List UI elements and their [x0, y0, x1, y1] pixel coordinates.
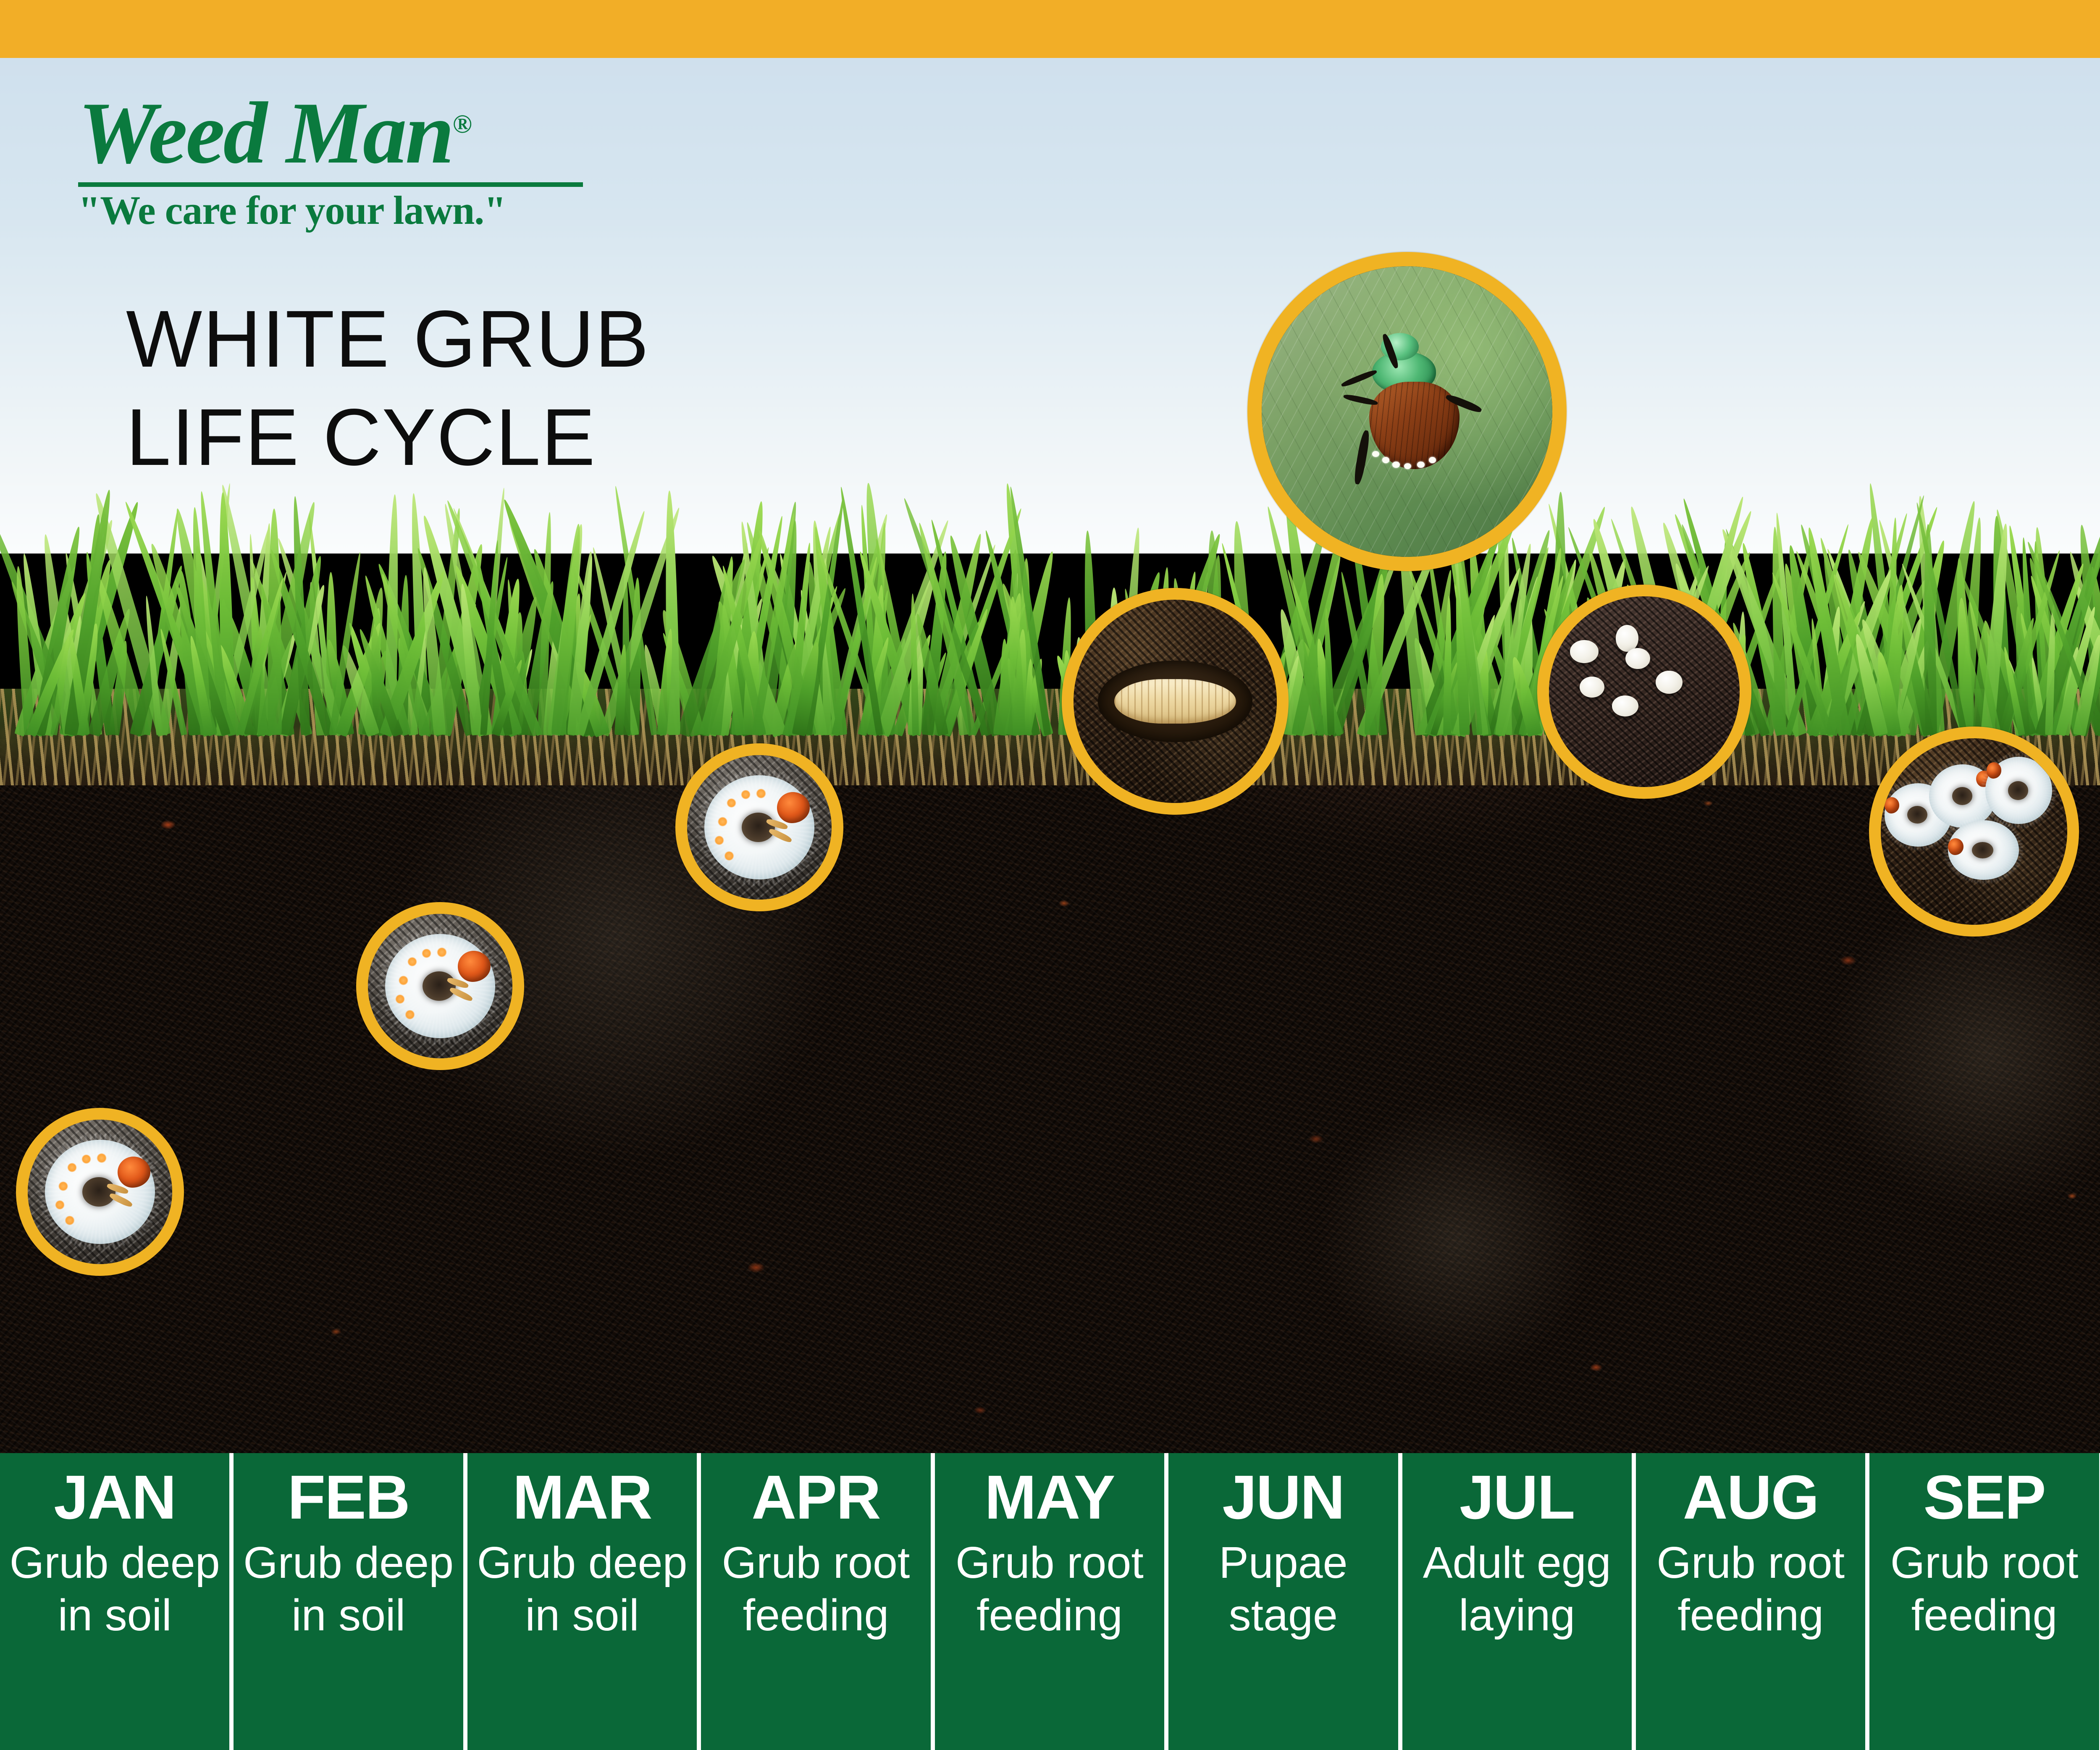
white-grub-icon — [1948, 820, 2019, 880]
registered-trademark-icon: ® — [453, 110, 472, 139]
month-cell-sep[interactable]: SEPGrub root feeding — [1869, 1453, 2099, 1750]
stage-circle-jul-adult-beetle[interactable] — [1247, 252, 1567, 571]
white-grub-icon — [1985, 757, 2053, 824]
month-stage-description: Grub deep in soil — [467, 1537, 697, 1642]
logo-wordmark: Weed Man® — [78, 89, 687, 177]
month-stage-description: Grub deep in soil — [0, 1537, 229, 1642]
month-abbr-label: APR — [751, 1465, 880, 1530]
month-stage-description: Grub root feeding — [701, 1537, 930, 1642]
beetle-egg-icon — [1612, 695, 1639, 716]
month-abbr-label: JUN — [1222, 1465, 1344, 1530]
white-grub-icon — [385, 934, 495, 1038]
month-stage-description: Grub root feeding — [1869, 1537, 2099, 1642]
month-stage-description: Adult egg laying — [1402, 1537, 1632, 1642]
logo-tagline: "We care for your lawn." — [78, 190, 687, 231]
page-title: WHITE GRUB LIFE CYCLE — [126, 290, 650, 486]
white-grub-life-cycle-poster: Weed Man® "We care for your lawn." WHITE… — [0, 0, 2100, 1750]
month-stage-description: Pupae stage — [1168, 1537, 1398, 1642]
month-cell-may[interactable]: MAYGrub root feeding — [935, 1453, 1164, 1750]
month-stage-description: Grub root feeding — [935, 1537, 1164, 1642]
stage-circle-jun-pupa[interactable] — [1062, 588, 1289, 815]
logo-divider-rule — [78, 182, 583, 187]
beetle-egg-icon — [1625, 648, 1650, 669]
weed-man-logo: Weed Man® "We care for your lawn." — [78, 89, 687, 231]
month-cell-feb[interactable]: FEBGrub deep in soil — [234, 1453, 463, 1750]
beetle-egg-icon — [1616, 625, 1638, 652]
month-abbr-label: JAN — [54, 1465, 176, 1530]
month-timeline: JANGrub deep in soilFEBGrub deep in soil… — [0, 1453, 2100, 1750]
month-cell-jan[interactable]: JANGrub deep in soil — [0, 1453, 229, 1750]
month-cell-mar[interactable]: MARGrub deep in soil — [467, 1453, 697, 1750]
logo-wordmark-text: Weed Man — [78, 84, 453, 182]
soil-photo-backdrop — [1549, 596, 1740, 787]
page-title-line-1: WHITE GRUB — [126, 294, 650, 384]
page-title-line-2: LIFE CYCLE — [126, 388, 650, 486]
month-abbr-label: FEB — [288, 1465, 409, 1530]
month-abbr-label: MAR — [513, 1465, 652, 1530]
stage-circle-feb-grub[interactable] — [356, 902, 524, 1070]
month-cell-jul[interactable]: JULAdult egg laying — [1402, 1453, 1632, 1750]
month-abbr-label: SEP — [1924, 1465, 2045, 1530]
month-abbr-label: MAY — [984, 1465, 1114, 1530]
stage-circle-jan-grub[interactable] — [16, 1108, 184, 1276]
stage-circle-sep-grubs[interactable] — [1869, 727, 2079, 937]
top-accent-bar — [0, 0, 2100, 58]
beetle-egg-icon — [1656, 671, 1683, 693]
beetle-egg-icon — [1570, 640, 1599, 663]
month-cell-jun[interactable]: JUNPupae stage — [1168, 1453, 1398, 1750]
soil-cross-section — [0, 739, 2100, 1453]
white-grub-icon — [704, 775, 814, 879]
stage-circle-jul-eggs[interactable] — [1537, 585, 1751, 799]
month-abbr-label: JUL — [1459, 1465, 1575, 1530]
month-cell-aug[interactable]: AUGGrub root feeding — [1636, 1453, 1865, 1750]
japanese-beetle-icon — [1337, 330, 1483, 481]
stage-circle-apr-grub[interactable] — [675, 743, 843, 911]
month-cell-apr[interactable]: APRGrub root feeding — [701, 1453, 930, 1750]
pupa-icon — [1114, 679, 1236, 724]
white-grub-icon — [45, 1140, 155, 1244]
month-stage-description: Grub deep in soil — [234, 1537, 463, 1642]
month-stage-description: Grub root feeding — [1636, 1537, 1865, 1642]
grass-layer — [0, 483, 2100, 785]
beetle-egg-icon — [1580, 677, 1604, 698]
month-abbr-label: AUG — [1683, 1465, 1819, 1530]
